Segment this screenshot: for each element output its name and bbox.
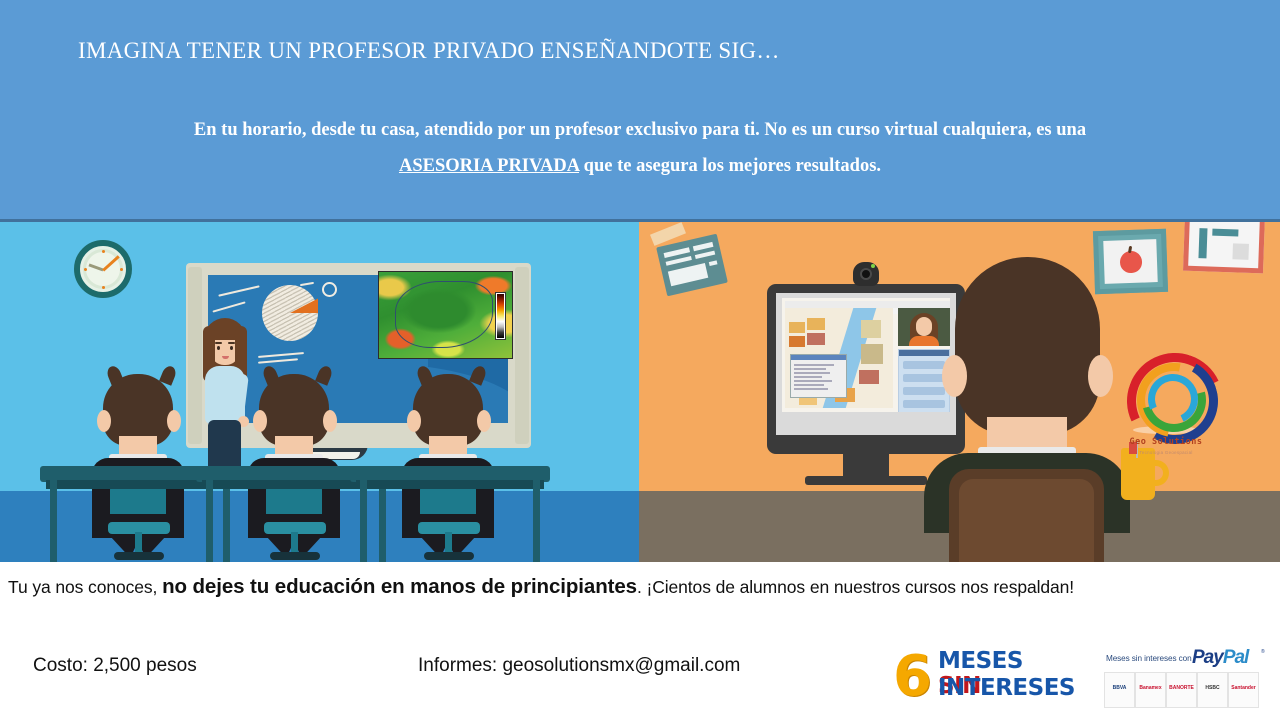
bank-logo-bbva: BBVA — [1104, 672, 1135, 708]
header-band: IMAGINA TENER UN PROFESOR PRIVADO ENSEÑA… — [0, 0, 1280, 222]
tagline-tail: . ¡Cientos de alumnos en nuestros cursos… — [637, 577, 1074, 597]
contact-label: Informes: geosolutionsmx@gmail.com — [418, 655, 740, 677]
gis-tool-dialog[interactable] — [790, 354, 847, 398]
bank-label: Santander — [1229, 685, 1258, 691]
office-chair — [949, 469, 1104, 562]
bank-label: HSBC — [1198, 685, 1227, 691]
slide-canvas: IMAGINA TENER UN PROFESOR PRIVADO ENSEÑA… — [0, 0, 1280, 720]
msi-meses: MESES — [938, 648, 1023, 674]
coffee-mug-icon — [1121, 448, 1167, 500]
geo-solutions-logo: Geo Solutions Tecnologia Geoespacial — [1117, 344, 1215, 454]
asesoria-privada-emphasis: ASESORIA PRIVADA — [399, 156, 579, 176]
subcopy-line-2-rest: que te asegura los mejores resultados. — [579, 156, 881, 176]
picture-frame-abstract — [1183, 222, 1265, 273]
header-subcopy: En tu horario, desde tu casa, atendido p… — [40, 112, 1240, 184]
home-office-illustration: Geo Solutions Tecnologia Geoespacial — [639, 222, 1280, 562]
paypal-badge: Meses sin intereses con PayPal ® BBVA Ba… — [1104, 648, 1266, 710]
bank-label: BANORTE — [1167, 685, 1196, 691]
subcopy-line-1: En tu horario, desde tu casa, atendido p… — [40, 112, 1240, 148]
bank-logo-strip: BBVA Banamex BANORTE HSBC Santander — [1104, 672, 1266, 708]
bank-logo-banamex: Banamex — [1135, 672, 1166, 708]
paypal-trademark: ® — [1261, 649, 1265, 655]
page-title: IMAGINA TENER UN PROFESOR PRIVADO ENSEÑA… — [78, 38, 1198, 64]
bank-logo-santander: Santander — [1228, 672, 1259, 708]
msi-line-2: INTERESES — [938, 676, 1075, 701]
paypal-wordmark: PayPal — [1192, 647, 1248, 669]
paypal-pay: Pay — [1192, 647, 1223, 668]
geo-solutions-logo-tagline: Tecnologia Geoespacial — [1117, 450, 1215, 455]
student-desk — [350, 222, 550, 562]
bank-label: BBVA — [1105, 685, 1134, 691]
classroom-illustration — [0, 222, 639, 562]
tagline: Tu ya nos conoces, no dejes tu educación… — [8, 575, 1273, 599]
bank-label: Banamex — [1136, 685, 1165, 691]
webcam-icon — [853, 262, 879, 286]
bank-logo-hsbc: HSBC — [1197, 672, 1228, 708]
paypal-pal: Pal — [1223, 647, 1249, 668]
footer-row: Costo: 2,500 pesos Informes: geosolution… — [0, 655, 1280, 715]
msi-badge: 6 MESES SIN INTERESES — [893, 645, 1068, 713]
geo-solutions-logo-name: Geo Solutions — [1117, 437, 1215, 447]
bank-logo-banorte: BANORTE — [1166, 672, 1197, 708]
paypal-caption: Meses sin intereses con — [1106, 654, 1192, 663]
illustration-strip: Geo Solutions Tecnologia Geoespacial — [0, 222, 1280, 562]
pinned-note-icon — [656, 234, 728, 297]
cost-label: Costo: 2,500 pesos — [33, 655, 197, 677]
tagline-lead: Tu ya nos conoces, — [8, 577, 162, 597]
tagline-bold: no dejes tu educación en manos de princi… — [162, 575, 637, 598]
msi-number: 6 — [893, 649, 932, 705]
subcopy-line-2: ASESORIA PRIVADA que te asegura los mejo… — [40, 148, 1240, 184]
